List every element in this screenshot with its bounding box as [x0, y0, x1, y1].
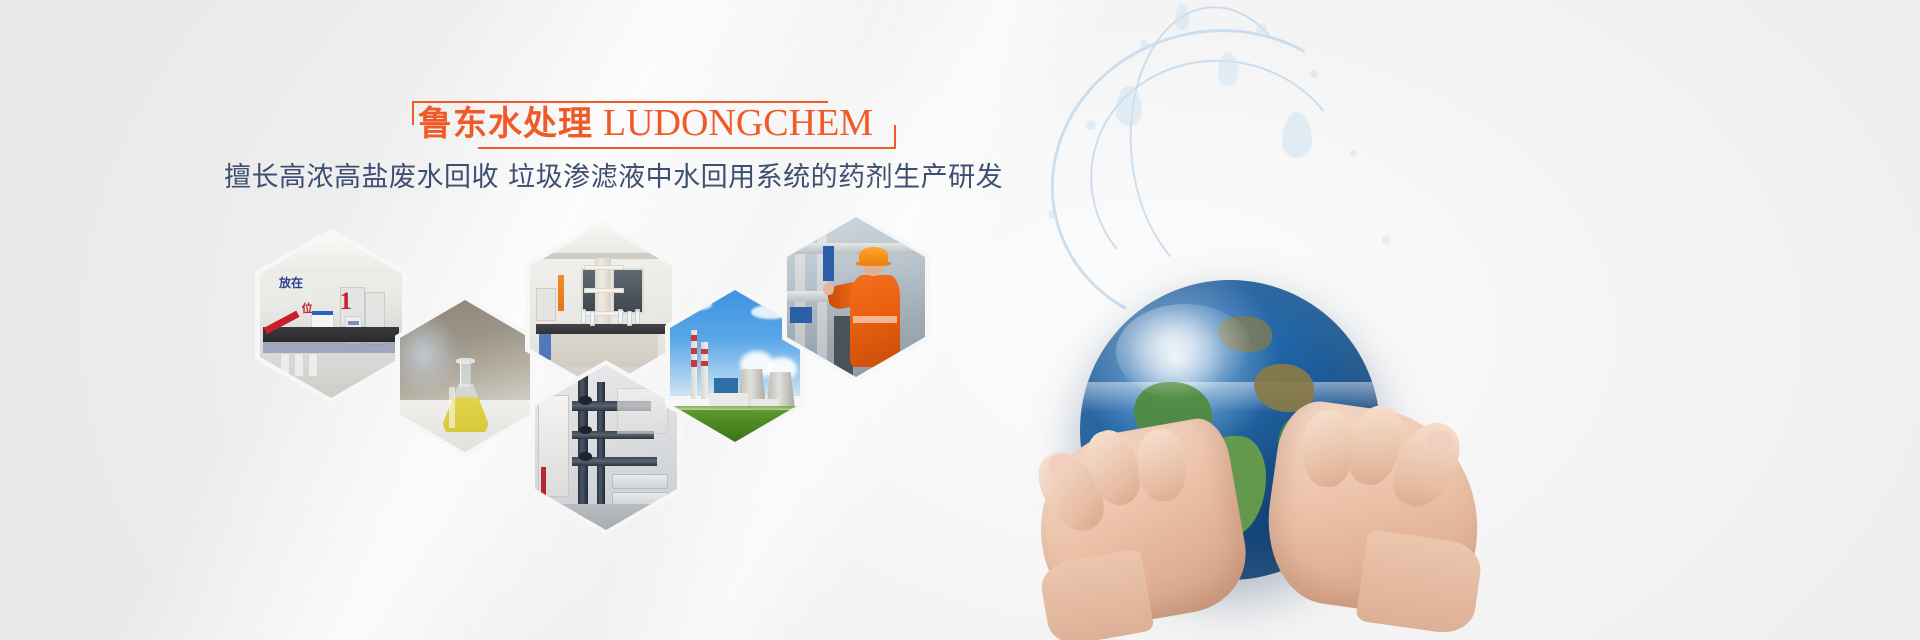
water-droplet [1048, 210, 1057, 219]
hex-photo-laboratory-interior[interactable]: 放在 位 1 [255, 228, 407, 403]
water-droplet [1256, 24, 1267, 35]
hero-banner: 鲁东水处理 LUDONGCHEM 擅长高浓高盐废水回收 垃圾渗滤液中水回用系统的… [0, 0, 1920, 640]
hex-photo-yellow-liquid-flask[interactable] [395, 295, 535, 457]
water-droplet [1350, 150, 1357, 157]
water-droplet [1140, 40, 1149, 49]
hex-photo-industrial-piping[interactable] [530, 360, 682, 535]
left-hand [1025, 414, 1255, 636]
water-droplet [1086, 120, 1096, 130]
right-hand [1257, 396, 1493, 623]
hands-holding-water-globe [1020, 0, 1580, 640]
water-droplet [1382, 236, 1390, 244]
water-droplet [1175, 4, 1189, 30]
lab-wall-number: 1 [340, 289, 353, 314]
lab-wall-text-suffix: 位 [302, 300, 313, 316]
hexagon-photo-cluster: 放在 位 1 [0, 0, 1000, 640]
water-droplet [1310, 70, 1318, 78]
lab-wall-text-cn: 放在 [279, 274, 303, 291]
